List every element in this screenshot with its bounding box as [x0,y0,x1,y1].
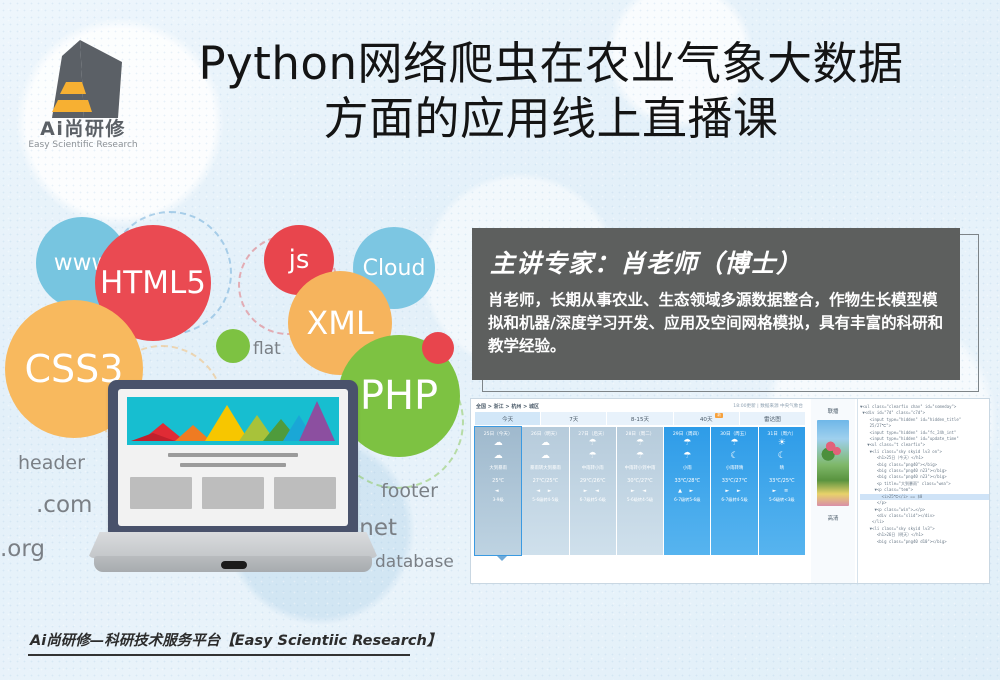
wind-direction-icon: ► ◄ [584,488,602,494]
forecast-day-temperature: 25℃ [492,478,504,484]
forecast-tab-label: 40天 [700,415,713,423]
brand-logo: Ai尚研修 Easy Scientific Research [22,32,144,154]
laptop-screen [118,389,348,526]
laptop-illustration [88,380,378,580]
title-line-1: Python网络爬虫在农业气象大数据 [199,37,904,90]
forecast-day-card[interactable]: 25日（今天）☁☁大到暴雨25℃◄3-9级 [475,427,521,555]
laptop-lid [108,380,358,535]
sidebar-label-bottom[interactable]: 高清 [811,514,855,522]
forecast-tab-badge: 新 [715,413,722,418]
weather-day-icon: ☂ [731,437,739,450]
wind-direction-icon: ◄ ► [536,488,554,494]
forecast-day-description: 大到暴雨 [489,466,507,472]
tech-bubble-dot-8 [422,332,454,364]
weather-night-icon: ☁ [494,450,503,463]
forecast-tab-今天[interactable]: 今天 [475,412,540,425]
header: Ai尚研修 Easy Scientific Research Python网络爬… [0,0,1000,170]
wind-direction-icon: ► ≡ [773,488,792,494]
speaker-panel: 主讲专家：肖老师（博士） 肖老师，长期从事农业、生态领域多源数据整合，作物生长模… [472,228,977,390]
content-card-2 [202,477,264,509]
weather-day-icon: ☀ [778,437,786,450]
forecast-day-temperature: 33℃/25℃ [769,478,795,484]
wind-direction-icon: ► ◄ [631,488,649,494]
weather-day-icon: ☂ [636,437,644,450]
forecast-day-card[interactable]: 27日（后天）☂☂中雨转小雨29℃/26℃► ◄6-7级转5-6级 [570,427,616,555]
illustration-label-footer: footer [381,480,438,502]
footer-brand-text: Ai尚研修—科研技术服务平台【Easy Scientiic Research】 [30,629,441,650]
wind-direction-icon: ► ► [725,488,743,494]
forecast-tab-8-15天[interactable]: 8-15天 [607,412,672,425]
laptop-keyboard-base [88,532,378,558]
forecast-tab-label: 雷达图 [764,415,781,423]
forecast-day-description: 小雨转晴 [726,466,744,472]
weather-night-icon: ☁ [541,450,550,463]
tech-bubble-dot-7 [216,329,250,363]
breadcrumb[interactable]: 全国 > 浙江 > 杭州 > 城区 [476,403,539,410]
svg-text:Ai尚研修: Ai尚研修 [40,117,126,140]
forecast-day-wind: 6-7级转4-5级 [721,497,747,503]
forecast-day-temperature: 30℃/27℃ [627,478,653,484]
speaker-title: 主讲专家：肖老师（博士） [490,244,960,280]
illustration-label-header: header [18,452,85,474]
forecast-day-card[interactable]: 29日（周四）☂☂小雨33℃/28℃▲ ►6-7级转5-6级 [664,427,710,555]
forecast-day-wind: 6-7级转5-6级 [674,497,700,503]
weather-sidebar: 联播 高清 [811,399,855,583]
weather-night-icon: ☾ [778,450,786,463]
content-line-2 [180,463,286,467]
footer-divider [28,654,410,656]
forecast-day-wind: 3-9级 [493,497,504,503]
forecast-day-list: 25日（今天）☁☁大到暴雨25℃◄3-9级26日（明天）☁☁暴雨转大到暴雨27℃… [475,427,805,555]
code-line[interactable]: <big class="png40 d10"></big> [860,539,989,545]
forecast-day-wind: 5-6级转4-5级 [627,497,653,503]
forecast-day-wind: 5-6级转<3级 [769,497,795,503]
illustration-label-com: .com [36,492,92,518]
laptop-trackpad [221,561,247,569]
weather-day-icon: ☂ [683,437,691,450]
illustration-label-org: .org [0,536,45,562]
weather-night-icon: ☂ [636,450,644,463]
forecast-day-description: 中雨转小到中雨 [625,466,656,472]
screen-chart [127,397,339,445]
forecast-day-card[interactable]: 31日（周六）☀☾晴33℃/25℃► ≡5-6级转<3级 [759,427,805,555]
web-tech-illustration: wwwHTML5CSS3jsCloudXMLPHP flatheader.com… [0,205,470,605]
weather-night-icon: ☂ [589,450,597,463]
forecast-day-description: 晴 [780,466,784,472]
weather-night-icon: ☂ [683,450,691,463]
forecast-day-wind: 6-7级转5-6级 [580,497,606,503]
speaker-description: 肖老师，长期从事农业、生态领域多源数据整合，作物生长模型模拟和机器/深度学习开发… [488,289,944,358]
content-card-3 [274,477,336,509]
forecast-tab-label: 7天 [569,415,578,423]
weather-forecast-panel: 全国 > 浙江 > 杭州 > 城区 18:00更新 | 数据来源 中央气象台 今… [471,399,809,583]
forecast-day-temperature: 29℃/26℃ [580,478,606,484]
mountain-chart-icon [127,397,339,445]
devtools-html-source[interactable]: ▼<ul class="clearfix chav" id="someday">… [857,399,990,583]
weather-night-icon: ☾ [731,450,739,463]
forecast-day-temperature: 33℃/27℃ [722,478,748,484]
forecast-tab-label: 8-15天 [631,415,649,423]
forecast-day-description: 小雨 [683,466,692,472]
sidebar-photo-thumbnail[interactable] [817,420,849,506]
forecast-day-wind: 5-6级转4-5级 [532,497,558,503]
wind-direction-icon: ◄ [495,488,502,494]
forecast-tab-label: 今天 [502,415,513,423]
content-card-1 [130,477,192,509]
forecast-day-card[interactable]: 26日（明天）☁☁暴雨转大到暴雨27℃/25℃◄ ►5-6级转4-5级 [522,427,568,555]
wind-direction-icon: ▲ ► [678,488,696,494]
forecast-day-card[interactable]: 28日（周二）☂☂中雨转小到中雨30℃/27℃► ◄5-6级转4-5级 [617,427,663,555]
weather-day-icon: ☁ [541,437,550,450]
forecast-day-temperature: 27℃/25℃ [533,478,559,484]
weather-site-screenshot: 全国 > 浙江 > 杭州 > 城区 18:00更新 | 数据来源 中央气象台 今… [470,398,990,584]
illustration-label-database: database [375,552,454,572]
page-title: Python网络爬虫在农业气象大数据 方面的应用线上直播课 [136,36,966,146]
content-line-1 [168,453,298,457]
weather-day-icon: ☁ [494,437,503,450]
slide-root: Ai尚研修 Easy Scientific Research Python网络爬… [0,0,1000,680]
forecast-range-tabs[interactable]: 今天7天8-15天40天新雷达图 [475,412,805,425]
speaker-panel-body: 主讲专家：肖老师（博士） 肖老师，长期从事农业、生态领域多源数据整合，作物生长模… [472,228,960,380]
forecast-tab-雷达图[interactable]: 雷达图 [740,412,805,425]
update-timestamp: 18:00更新 | 数据来源 中央气象台 [733,403,803,409]
selected-day-caret-icon [497,556,507,561]
weather-day-icon: ☂ [589,437,597,450]
illustration-label-flat: flat [253,339,281,359]
forecast-day-temperature: 33℃/28℃ [674,478,700,484]
title-line-2: 方面的应用线上直播课 [136,91,966,146]
forecast-day-description: 中雨转小雨 [582,466,604,472]
sidebar-label-top[interactable]: 联播 [811,407,855,415]
svg-text:Easy Scientific Research: Easy Scientific Research [28,140,137,150]
forecast-day-card[interactable]: 30日（周五）☂☾小雨转晴33℃/27℃► ►6-7级转4-5级 [711,427,757,555]
forecast-tab-7天[interactable]: 7天 [541,412,606,425]
forecast-tab-40天[interactable]: 40天新 [674,412,739,425]
logo-mark-icon: Ai尚研修 Easy Scientific Research [22,32,144,154]
forecast-day-description: 暴雨转大到暴雨 [530,466,561,472]
